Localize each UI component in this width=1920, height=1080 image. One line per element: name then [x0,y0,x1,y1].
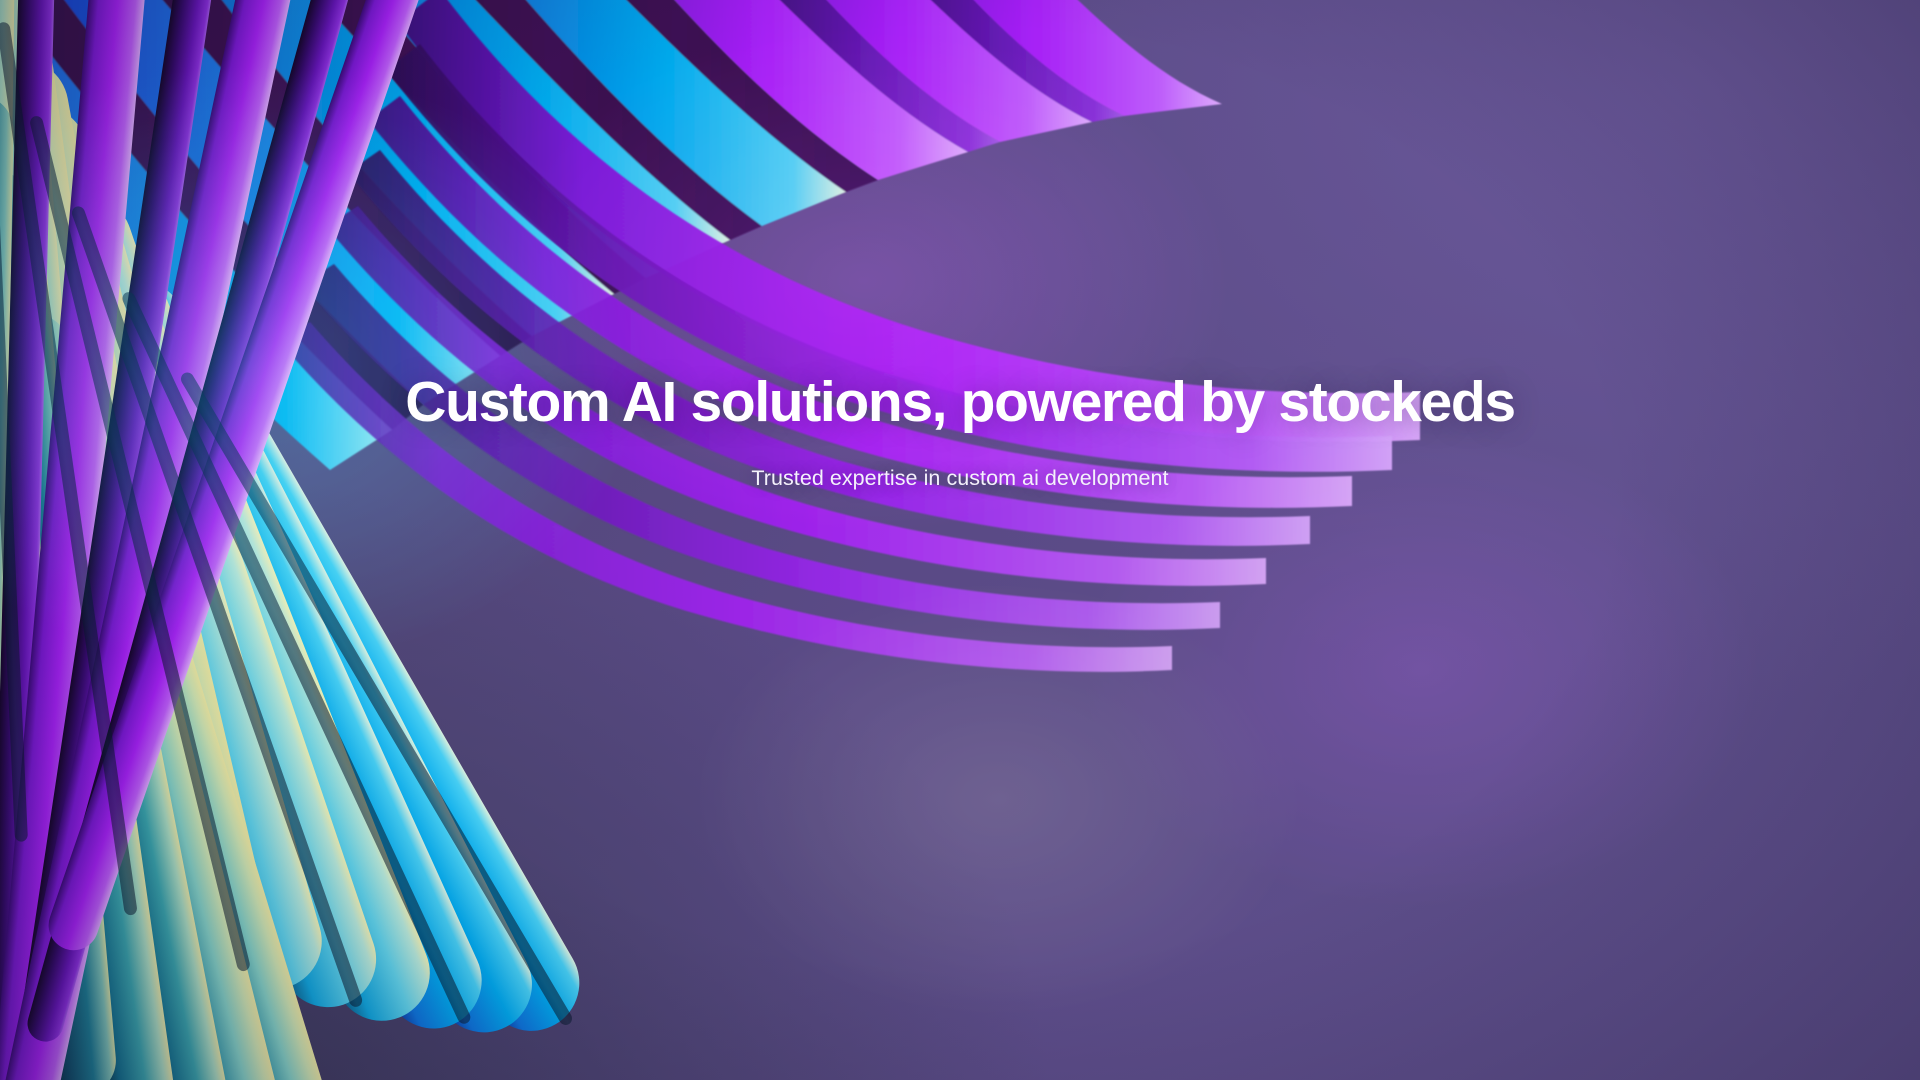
hero-headline: Custom AI solutions, powered by stockeds [80,372,1840,434]
hero-copy: Custom AI solutions, powered by stockeds… [0,372,1920,493]
abstract-fan-artwork [0,0,1920,1080]
blade-group-upper-purple [278,0,1420,672]
hero-subheadline: Trusted expertise in custom ai developme… [80,463,1840,493]
fan-blades-svg [0,0,1920,1080]
hero-section: Custom AI solutions, powered by stockeds… [0,0,1920,1080]
